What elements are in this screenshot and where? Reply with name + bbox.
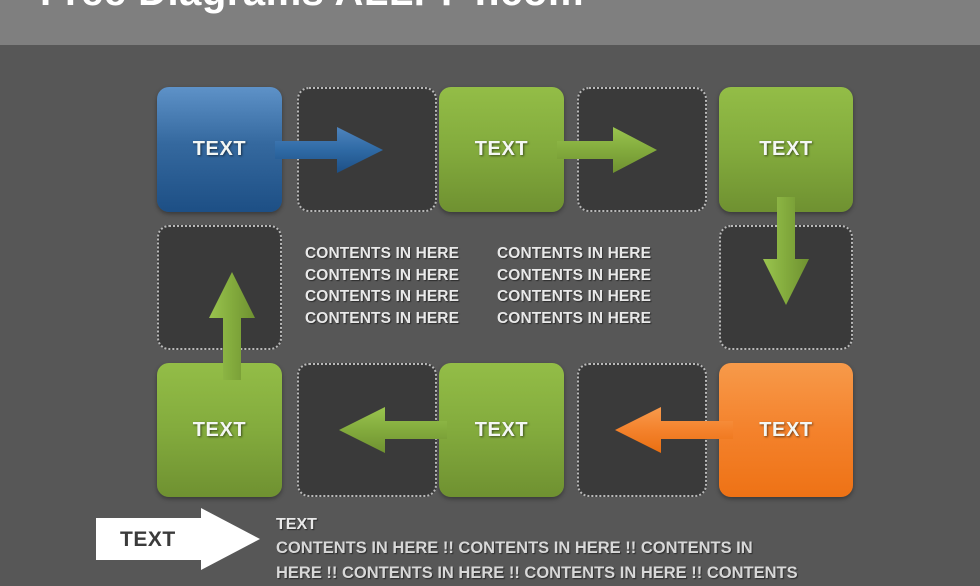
footer-heading: TEXT bbox=[276, 513, 966, 536]
process-box-6[interactable]: TEXT bbox=[719, 363, 853, 497]
footer-arrow-label: TEXT bbox=[120, 528, 176, 552]
contents-text-left: CONTENTS IN HERE bbox=[305, 286, 497, 308]
footer-text-block: TEXT CONTENTS IN HERE !! CONTENTS IN HER… bbox=[276, 513, 966, 586]
arrow-down-green-icon bbox=[763, 197, 809, 305]
process-box-label: TEXT bbox=[193, 138, 247, 161]
arrow-left-orange-icon bbox=[615, 407, 733, 453]
footer-body-line: HERE !! CONTENTS IN HERE !! CONTENTS IN … bbox=[276, 561, 966, 586]
contents-text-right: CONTENTS IN HERE bbox=[497, 265, 689, 287]
process-box-2[interactable]: TEXT bbox=[439, 87, 564, 212]
arrow-up-green-icon bbox=[209, 272, 255, 380]
page-title: Free Diagrams ALLPPT.com bbox=[40, 0, 584, 15]
process-box-label: TEXT bbox=[193, 419, 247, 442]
process-box-label: TEXT bbox=[475, 419, 529, 442]
contents-text-right: CONTENTS IN HERE bbox=[497, 243, 689, 265]
contents-text-left: CONTENTS IN HERE bbox=[305, 308, 497, 330]
contents-line: CONTENTS IN HERECONTENTS IN HERE bbox=[305, 243, 700, 265]
contents-text-right: CONTENTS IN HERE bbox=[497, 308, 689, 330]
process-box-label: TEXT bbox=[759, 419, 813, 442]
contents-text-block: CONTENTS IN HERECONTENTS IN HERE CONTENT… bbox=[305, 243, 700, 329]
arrow-left-green-icon bbox=[339, 407, 447, 453]
footer-body-line: CONTENTS IN HERE !! CONTENTS IN HERE !! … bbox=[276, 536, 966, 561]
contents-text-right: CONTENTS IN HERE bbox=[497, 286, 689, 308]
process-box-3[interactable]: TEXT bbox=[719, 87, 853, 212]
process-box-label: TEXT bbox=[475, 138, 529, 161]
contents-line: CONTENTS IN HERECONTENTS IN HERE bbox=[305, 286, 700, 308]
process-box-1[interactable]: TEXT bbox=[157, 87, 282, 212]
footer-arrow-head bbox=[201, 508, 260, 570]
contents-line: CONTENTS IN HERECONTENTS IN HERE bbox=[305, 265, 700, 287]
arrow-right-green-icon bbox=[557, 127, 657, 173]
contents-text-left: CONTENTS IN HERE bbox=[305, 265, 497, 287]
contents-text-left: CONTENTS IN HERE bbox=[305, 243, 497, 265]
process-box-4[interactable]: TEXT bbox=[157, 363, 282, 497]
contents-line: CONTENTS IN HERECONTENTS IN HERE bbox=[305, 308, 700, 330]
footer-arrow-right-white-icon[interactable]: TEXT bbox=[96, 508, 260, 570]
arrow-right-blue-icon bbox=[275, 127, 383, 173]
process-box-label: TEXT bbox=[759, 138, 813, 161]
process-box-5[interactable]: TEXT bbox=[439, 363, 564, 497]
